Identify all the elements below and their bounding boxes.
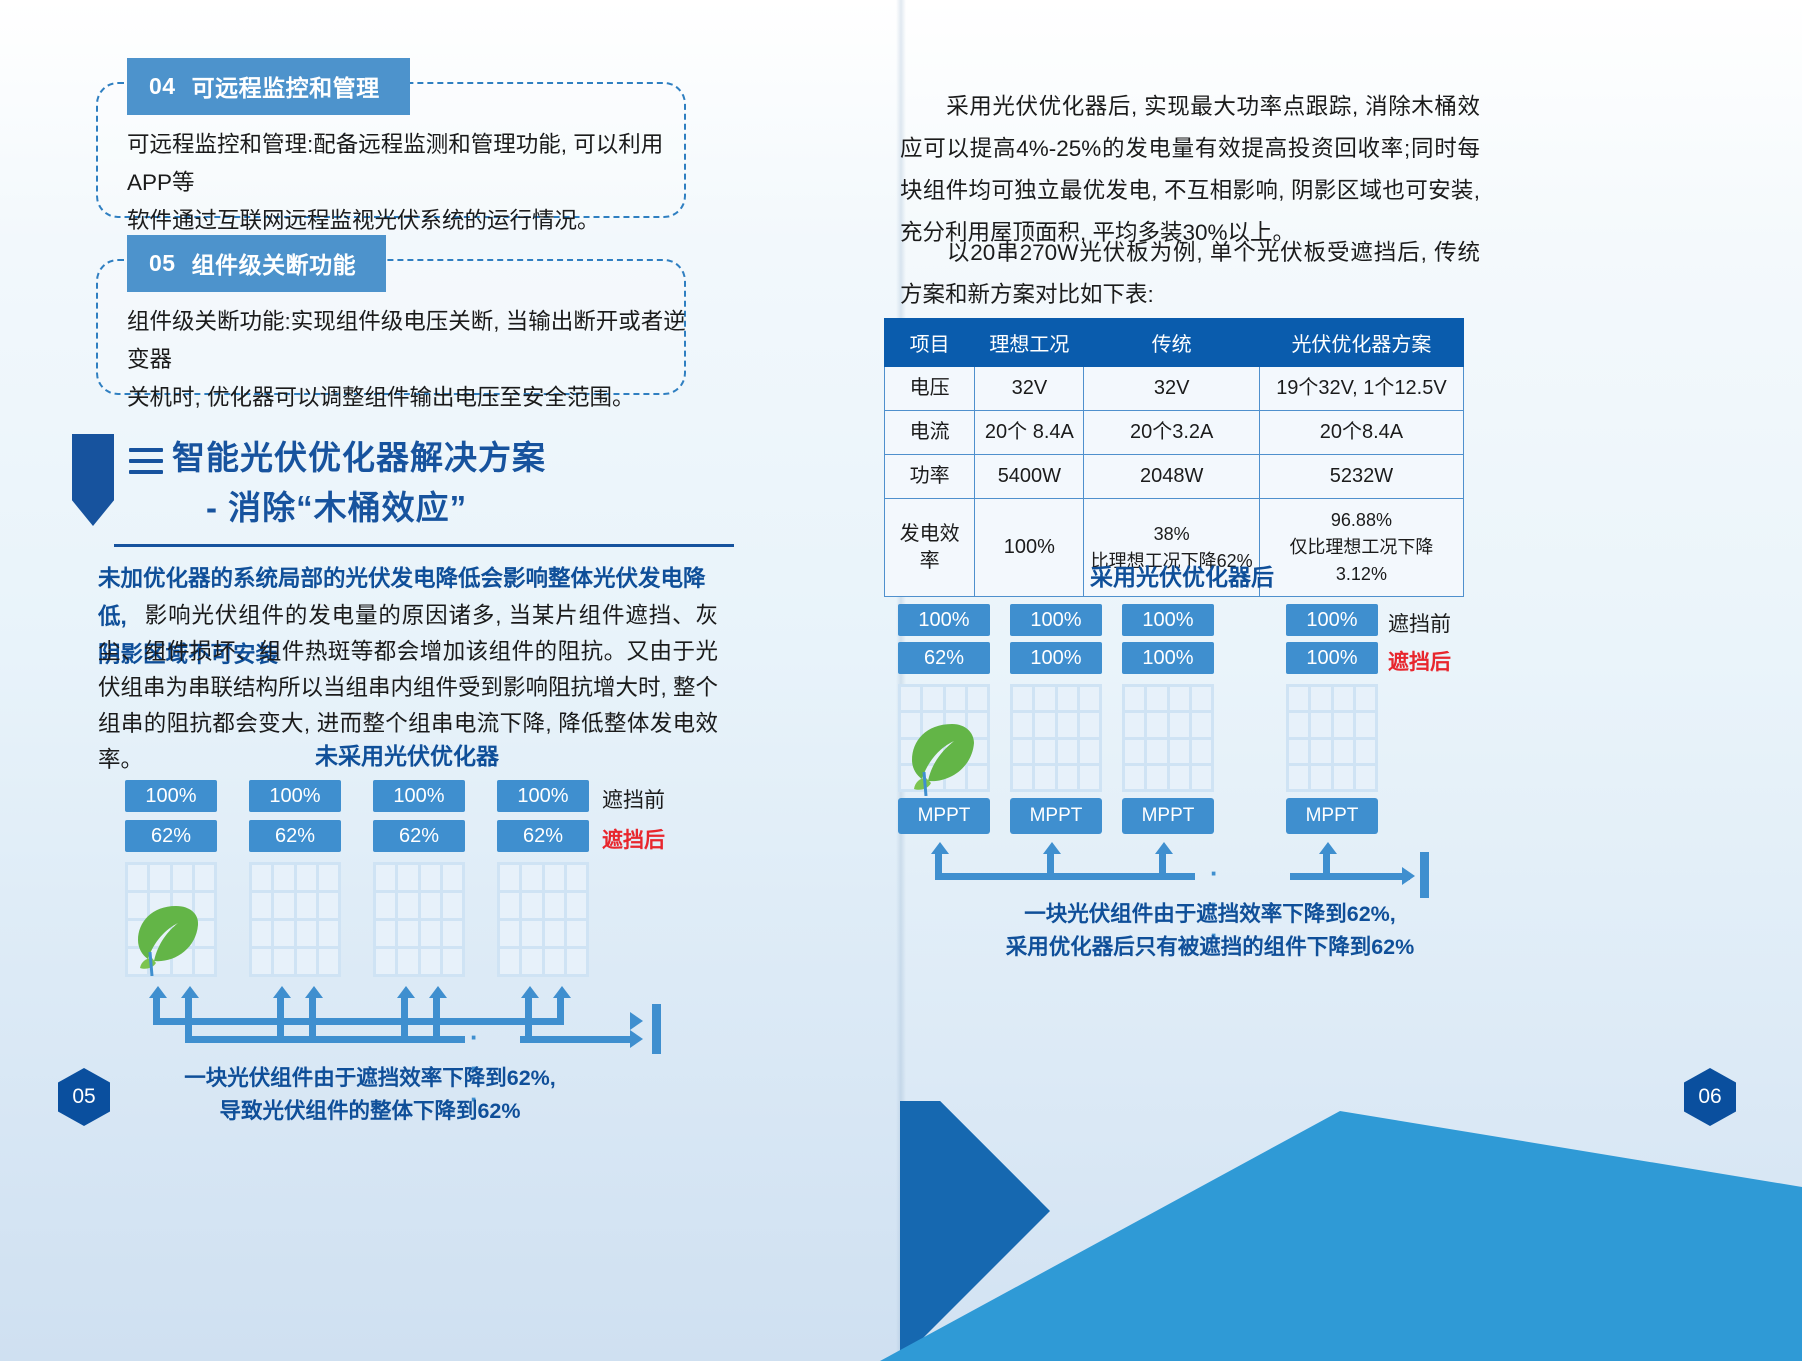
left-solar-panel-3 xyxy=(373,862,465,977)
right-after-pct-3: 100% xyxy=(1122,642,1214,674)
table-header-traditional: 传统 xyxy=(1084,319,1259,367)
left-solar-panel-4 xyxy=(497,862,589,977)
left-wire-h-top xyxy=(153,1018,564,1025)
table-header-row: 项目 理想工况 传统 光伏优化器方案 xyxy=(885,319,1464,367)
section-title: 智能光伏优化器解决方案 xyxy=(172,434,546,482)
cell-voltage-traditional: 32V xyxy=(1084,367,1259,411)
right-wire-terminal xyxy=(1420,852,1429,898)
cell-voltage-optimizer: 19个32V, 1个12.5V xyxy=(1259,367,1463,411)
shading-leaf-icon xyxy=(130,900,202,976)
cell-power-traditional: 2048W xyxy=(1084,455,1259,499)
right-solar-panel-2 xyxy=(1010,684,1102,792)
cell-power-ideal: 5400W xyxy=(975,455,1084,499)
cell-voltage-label: 电压 xyxy=(885,367,975,411)
right-before-pct-1: 100% xyxy=(898,604,990,636)
left-after-label: 遮挡后 xyxy=(602,824,665,854)
cell-efficiency-label: 发电效率 xyxy=(885,499,975,597)
table-header-optimizer: 光伏优化器方案 xyxy=(1259,319,1463,367)
cell-current-label: 电流 xyxy=(885,411,975,455)
feature-05-title: 组件级关断功能 xyxy=(192,246,357,280)
mppt-box-4: MPPT xyxy=(1286,798,1378,834)
right-after-pct-4: 100% xyxy=(1286,642,1378,674)
left-before-pct-4: 100% xyxy=(497,780,589,812)
left-arrow-right-top xyxy=(630,1012,643,1030)
cell-efficiency-ideal: 100% xyxy=(975,499,1084,597)
left-wire-h-bottom xyxy=(185,1036,465,1043)
right-arrow-right xyxy=(1402,867,1415,885)
diagram-right-title: 采用光伏优化器后 xyxy=(1090,558,1274,592)
right-wire-h-main xyxy=(935,873,1195,880)
shading-leaf-icon xyxy=(902,718,980,796)
cell-voltage-ideal: 32V xyxy=(975,367,1084,411)
left-before-pct-1: 100% xyxy=(125,780,217,812)
feature-04-tag: 04 可远程监控和管理 xyxy=(127,58,410,115)
left-after-pct-3: 62% xyxy=(373,820,465,852)
table-header-ideal: 理想工况 xyxy=(975,319,1084,367)
brochure-spread: 04 可远程监控和管理 可远程监控和管理:配备远程监测和管理功能, 可以利用AP… xyxy=(0,0,1802,1361)
right-paragraph-2: 以20串270W光伏板为例, 单个光伏板受遮挡后, 传统方案和新方案对比如下表: xyxy=(900,232,1480,316)
left-after-pct-1: 62% xyxy=(125,820,217,852)
cell-current-optimizer: 20个8.4A xyxy=(1259,411,1463,455)
mppt-box-1: MPPT xyxy=(898,798,990,834)
right-paragraph-1: 采用光伏优化器后, 实现最大功率点跟踪, 消除木桶效应可以提高4%-25%的发电… xyxy=(900,86,1480,254)
cell-power-optimizer: 5232W xyxy=(1259,455,1463,499)
feature-box-05: 05 组件级关断功能 组件级关断功能:实现组件级电压关断, 当输出断开或者逆变器… xyxy=(96,235,686,395)
left-before-pct-2: 100% xyxy=(249,780,341,812)
feature-04-body: 可远程监控和管理:配备远程监测和管理功能, 可以利用APP等 软件通过互联网远程… xyxy=(127,126,687,240)
left-solar-panel-2 xyxy=(249,862,341,977)
cell-current-traditional: 20个3.2A xyxy=(1084,411,1259,455)
cell-current-ideal: 20个 8.4A xyxy=(975,411,1084,455)
right-before-label: 遮挡前 xyxy=(1388,608,1451,638)
right-solar-panel-3 xyxy=(1122,684,1214,792)
section-rule xyxy=(114,544,734,547)
table-row: 电压 32V 32V 19个32V, 1个12.5V xyxy=(885,367,1464,411)
mppt-box-2: MPPT xyxy=(1010,798,1102,834)
right-solar-panel-4 xyxy=(1286,684,1378,792)
diagram-right-caption: 一块光伏组件由于遮挡效率下降到62%, 采用优化器后只有被遮挡的组件下降到62% xyxy=(960,898,1460,964)
left-wire-terminal xyxy=(652,1004,661,1054)
left-before-label: 遮挡前 xyxy=(602,784,665,814)
mppt-box-3: MPPT xyxy=(1122,798,1214,834)
right-after-pct-2: 100% xyxy=(1010,642,1102,674)
left-after-pct-2: 62% xyxy=(249,820,341,852)
feature-04-title: 可远程监控和管理 xyxy=(192,69,380,103)
left-arrow-right-bottom xyxy=(630,1030,643,1048)
right-wire-h-main2 xyxy=(1290,873,1410,880)
hamburger-icon xyxy=(129,448,163,481)
right-after-pct-1: 62% xyxy=(898,642,990,674)
diagram-left-caption: 一块光伏组件由于遮挡效率下降到62%, 导致光伏组件的整体下降到62% xyxy=(140,1062,600,1128)
table-header-item: 项目 xyxy=(885,319,975,367)
cell-power-label: 功率 xyxy=(885,455,975,499)
feature-05-body: 组件级关断功能:实现组件级电压关断, 当输出断开或者逆变器 关机时, 优化器可以… xyxy=(127,303,687,417)
feature-04-number: 04 xyxy=(149,73,176,100)
right-before-pct-2: 100% xyxy=(1010,604,1102,636)
table-row: 功率 5400W 2048W 5232W xyxy=(885,455,1464,499)
left-before-pct-3: 100% xyxy=(373,780,465,812)
feature-05-number: 05 xyxy=(149,250,176,277)
right-after-label: 遮挡后 xyxy=(1388,646,1451,676)
comparison-table: 项目 理想工况 传统 光伏优化器方案 电压 32V 32V 19个32V, 1个… xyxy=(884,318,1464,597)
diagram-left-title: 未采用光伏优化器 xyxy=(315,737,499,771)
feature-box-04: 04 可远程监控和管理 可远程监控和管理:配备远程监测和管理功能, 可以利用AP… xyxy=(96,58,686,218)
table-row: 电流 20个 8.4A 20个3.2A 20个8.4A xyxy=(885,411,1464,455)
left-wire-h-bottom2 xyxy=(520,1036,630,1043)
right-before-pct-4: 100% xyxy=(1286,604,1378,636)
left-after-pct-4: 62% xyxy=(497,820,589,852)
right-before-pct-3: 100% xyxy=(1122,604,1214,636)
cell-efficiency-optimizer: 96.88% 仅比理想工况下降3.12% xyxy=(1259,499,1463,597)
feature-05-tag: 05 组件级关断功能 xyxy=(127,235,386,292)
section-subtitle: - 消除“木桶效应” xyxy=(206,484,467,532)
